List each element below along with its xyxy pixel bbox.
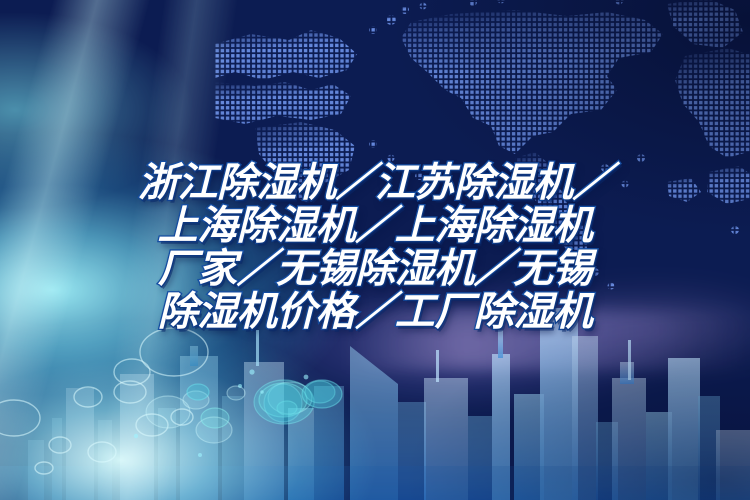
headline-line-3: 厂家／无锡除湿机／无锡	[0, 248, 750, 291]
promo-banner: 浙江除湿机／江苏除湿机／ 上海除湿机／上海除湿机 厂家／无锡除湿机／无锡 除湿机…	[0, 0, 750, 500]
headline-line-2: 上海除湿机／上海除湿机	[0, 205, 750, 248]
headline: 浙江除湿机／江苏除湿机／ 上海除湿机／上海除湿机 厂家／无锡除湿机／无锡 除湿机…	[0, 162, 750, 334]
headline-line-1: 浙江除湿机／江苏除湿机／	[0, 162, 750, 205]
headline-line-4: 除湿机价格／工厂除湿机	[0, 291, 750, 334]
